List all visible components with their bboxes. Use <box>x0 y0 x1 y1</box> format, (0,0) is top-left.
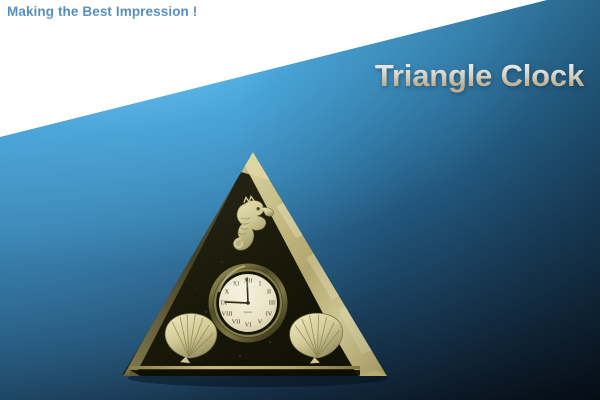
svg-text:IV: IV <box>266 310 273 317</box>
clock-center-pin <box>246 301 250 305</box>
tagline-text: Making the Best Impression ! <box>7 4 197 19</box>
product-banner: Making the Best Impression ! Triangle Cl… <box>0 0 600 400</box>
clock-brand-text: Quartz <box>244 310 253 314</box>
triangle-clock-illustration: XII I II III IV V VI VII VIII IX X XI <box>110 142 400 387</box>
svg-text:II: II <box>267 288 271 295</box>
svg-text:III: III <box>269 299 275 306</box>
base-gold-strip <box>130 366 360 369</box>
svg-text:VII: VII <box>232 318 241 325</box>
svg-text:VIII: VIII <box>222 310 233 317</box>
page-title: Triangle Clock <box>375 58 584 94</box>
svg-text:V: V <box>258 318 263 325</box>
product-image-triangle-clock: XII I II III IV V VI VII VIII IX X XI <box>110 142 400 387</box>
base-plinth <box>130 370 360 376</box>
clock-assembly: XII I II III IV V VI VII VIII IX X XI <box>208 263 288 343</box>
clock-hour-hand <box>226 302 248 303</box>
svg-text:VI: VI <box>245 321 252 328</box>
